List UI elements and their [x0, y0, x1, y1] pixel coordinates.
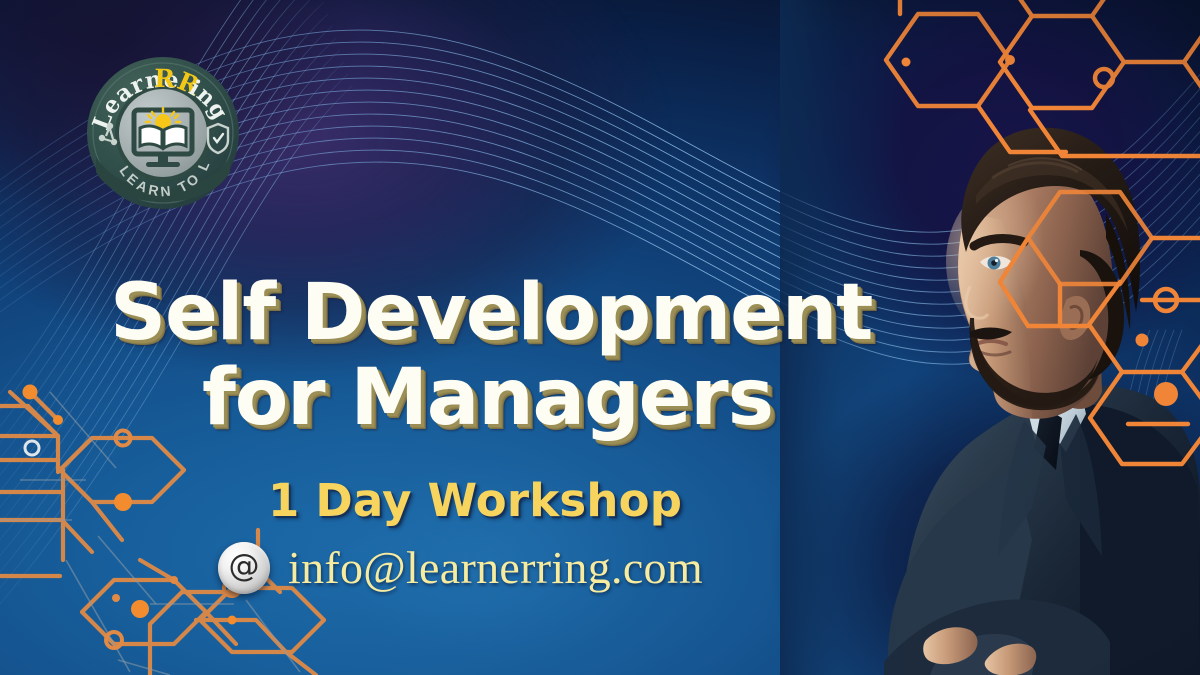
at-sign-icon: @ — [218, 542, 270, 594]
contact-email-text[interactable]: info@learnerring.com — [288, 541, 703, 594]
contact-email-row[interactable]: @ info@learnerring.com — [218, 541, 703, 594]
event-poster: Learne RR ing — [0, 0, 1200, 675]
headline-line-2: for Managers — [202, 361, 870, 436]
headline-block: Self Development for Managers — [110, 276, 870, 436]
workshop-subtitle: 1 Day Workshop — [268, 474, 682, 527]
logo-svg: Learne RR ing — [82, 52, 244, 214]
brand-logo[interactable]: Learne RR ing — [82, 52, 244, 214]
headline-line-1: Self Development — [110, 276, 870, 351]
